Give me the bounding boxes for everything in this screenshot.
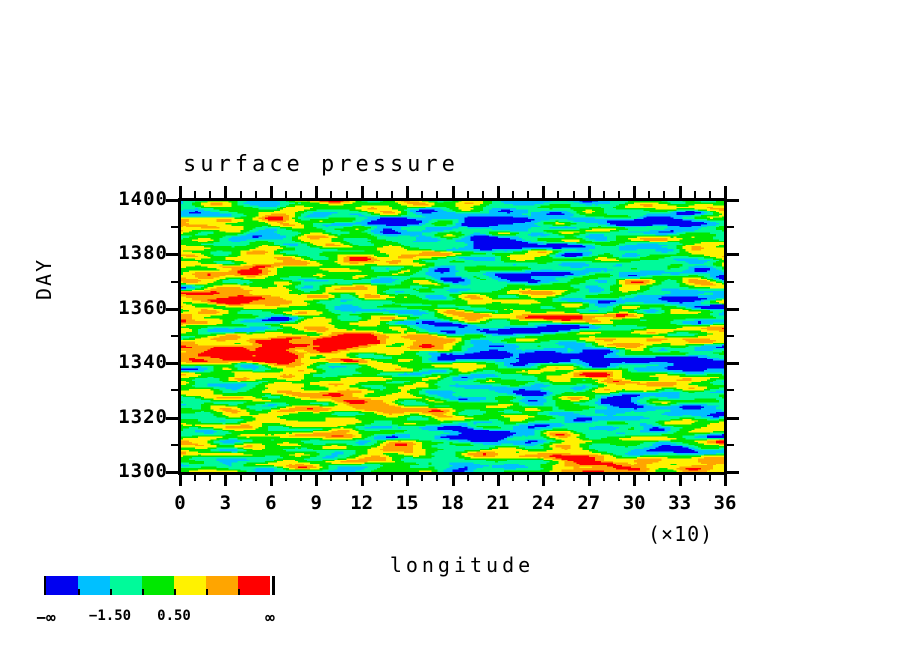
x-tick-label: 30	[611, 492, 657, 514]
colorbar-endcap-right	[272, 576, 275, 595]
y-tick-left	[171, 389, 178, 391]
x-tick-bottom	[406, 474, 409, 486]
y-axis-title: DAY	[32, 258, 56, 300]
colorbar-tick	[206, 589, 208, 595]
x-tick-top	[194, 191, 196, 198]
x-tick-bottom	[527, 474, 529, 481]
colorbar-tick	[142, 589, 144, 595]
x-tick-bottom	[603, 474, 605, 481]
x-tick-label: 36	[702, 492, 748, 514]
x-tick-top	[436, 191, 438, 198]
x-tick-top	[648, 191, 650, 198]
x-tick-bottom	[648, 474, 650, 481]
x-tick-top	[346, 191, 348, 198]
x-tick-bottom	[542, 474, 545, 486]
x-tick-top	[679, 186, 682, 198]
y-tick-right	[727, 444, 734, 446]
y-tick-right	[727, 226, 734, 228]
x-tick-top	[240, 191, 242, 198]
x-tick-label: 6	[248, 492, 294, 514]
y-tick-left	[171, 226, 178, 228]
axis-line-left	[178, 198, 181, 475]
x-tick-top	[421, 191, 423, 198]
y-tick-label: 1360	[88, 297, 168, 319]
x-tick-top	[209, 191, 211, 198]
x-tick-top	[300, 191, 302, 198]
x-tick-bottom	[724, 474, 727, 486]
x-tick-top	[709, 191, 711, 198]
x-tick-label: 24	[520, 492, 566, 514]
x-tick-bottom	[224, 474, 227, 486]
x-tick-top	[270, 186, 273, 198]
axis-line-top	[180, 198, 727, 201]
y-tick-label: 1320	[88, 406, 168, 428]
x-tick-top	[663, 191, 665, 198]
x-tick-bottom	[633, 474, 636, 486]
colorbar-band-6	[238, 576, 270, 595]
x-tick-top	[452, 186, 455, 198]
x-tick-top	[497, 186, 500, 198]
y-tick-label: 1300	[88, 460, 168, 482]
x-tick-top	[315, 186, 318, 198]
x-tick-top	[255, 191, 257, 198]
x-tick-top	[633, 186, 636, 198]
x-tick-bottom	[467, 474, 469, 481]
y-tick-left	[171, 281, 178, 283]
x-tick-top	[557, 191, 559, 198]
y-tick-right	[727, 417, 739, 420]
x-tick-top	[330, 191, 332, 198]
x-tick-bottom	[497, 474, 500, 486]
x-tick-top	[724, 186, 727, 198]
x-tick-bottom	[361, 474, 364, 486]
x-tick-top	[588, 186, 591, 198]
x-tick-top	[603, 191, 605, 198]
y-tick-right	[727, 471, 739, 474]
y-tick-left	[171, 335, 178, 337]
x-axis-multiplier: (×10)	[648, 522, 713, 546]
y-tick-right	[727, 253, 739, 256]
x-tick-top	[482, 191, 484, 198]
x-tick-bottom	[209, 474, 211, 481]
x-tick-top	[542, 186, 545, 198]
x-tick-bottom	[618, 474, 620, 481]
x-tick-bottom	[482, 474, 484, 481]
x-tick-bottom	[512, 474, 514, 481]
colorbar-band-0	[46, 576, 78, 595]
x-tick-bottom	[709, 474, 711, 481]
x-tick-bottom	[255, 474, 257, 481]
x-tick-top	[285, 191, 287, 198]
x-tick-bottom	[270, 474, 273, 486]
x-tick-bottom	[285, 474, 287, 481]
x-tick-top	[467, 191, 469, 198]
x-tick-bottom	[330, 474, 332, 481]
x-tick-top	[618, 191, 620, 198]
x-tick-bottom	[391, 474, 393, 481]
colorbar-label: −1.50	[75, 608, 145, 624]
x-tick-top	[391, 191, 393, 198]
x-tick-label: 9	[293, 492, 339, 514]
x-tick-top	[179, 186, 182, 198]
colorbar-tick	[110, 589, 112, 595]
colorbar-band-2	[110, 576, 142, 595]
x-tick-bottom	[679, 474, 682, 486]
x-tick-label: 12	[339, 492, 385, 514]
x-tick-bottom	[588, 474, 591, 486]
x-tick-bottom	[452, 474, 455, 486]
y-tick-right	[727, 281, 734, 283]
x-tick-top	[694, 191, 696, 198]
heatmap-canvas	[180, 200, 725, 472]
colorbar-label: ∞	[235, 608, 305, 627]
x-tick-bottom	[315, 474, 318, 486]
x-axis-title: longitude	[0, 553, 904, 577]
x-tick-label: 0	[157, 492, 203, 514]
y-tick-right	[727, 308, 739, 311]
y-tick-label: 1380	[88, 242, 168, 264]
x-tick-top	[512, 191, 514, 198]
colorbar-label: −∞	[11, 608, 81, 627]
x-tick-label: 21	[475, 492, 521, 514]
x-tick-label: 33	[657, 492, 703, 514]
x-tick-bottom	[346, 474, 348, 481]
x-tick-bottom	[694, 474, 696, 481]
colorbar-band-5	[206, 576, 238, 595]
colorbar-band-4	[174, 576, 206, 595]
x-tick-bottom	[557, 474, 559, 481]
y-tick-right	[727, 389, 734, 391]
x-tick-top	[361, 186, 364, 198]
y-tick-right	[727, 199, 739, 202]
x-tick-label: 3	[202, 492, 248, 514]
colorbar-tick	[238, 589, 240, 595]
x-tick-bottom	[179, 474, 182, 486]
x-tick-top	[406, 186, 409, 198]
y-tick-label: 1340	[88, 351, 168, 373]
x-tick-top	[376, 191, 378, 198]
x-tick-label: 27	[566, 492, 612, 514]
x-tick-bottom	[240, 474, 242, 481]
x-tick-top	[527, 191, 529, 198]
x-tick-bottom	[300, 474, 302, 481]
colorbar-band-3	[142, 576, 174, 595]
page-title: surface pressure	[183, 152, 459, 177]
y-tick-right	[727, 335, 734, 337]
x-tick-label: 18	[430, 492, 476, 514]
x-tick-top	[224, 186, 227, 198]
x-tick-bottom	[573, 474, 575, 481]
y-tick-right	[727, 362, 739, 365]
figure-root: surface pressure 0369121518212427303336 …	[0, 0, 904, 654]
y-tick-label: 1400	[88, 188, 168, 210]
x-tick-bottom	[436, 474, 438, 481]
colorbar-band-1	[78, 576, 110, 595]
x-tick-top	[573, 191, 575, 198]
x-tick-bottom	[194, 474, 196, 481]
x-tick-label: 15	[384, 492, 430, 514]
x-tick-bottom	[663, 474, 665, 481]
colorbar-tick	[174, 589, 176, 595]
colorbar-tick	[78, 589, 80, 595]
colorbar-label: 0.50	[139, 608, 209, 624]
heatmap-plot-area	[180, 200, 725, 472]
x-tick-bottom	[376, 474, 378, 481]
y-tick-left	[171, 444, 178, 446]
x-tick-bottom	[421, 474, 423, 481]
